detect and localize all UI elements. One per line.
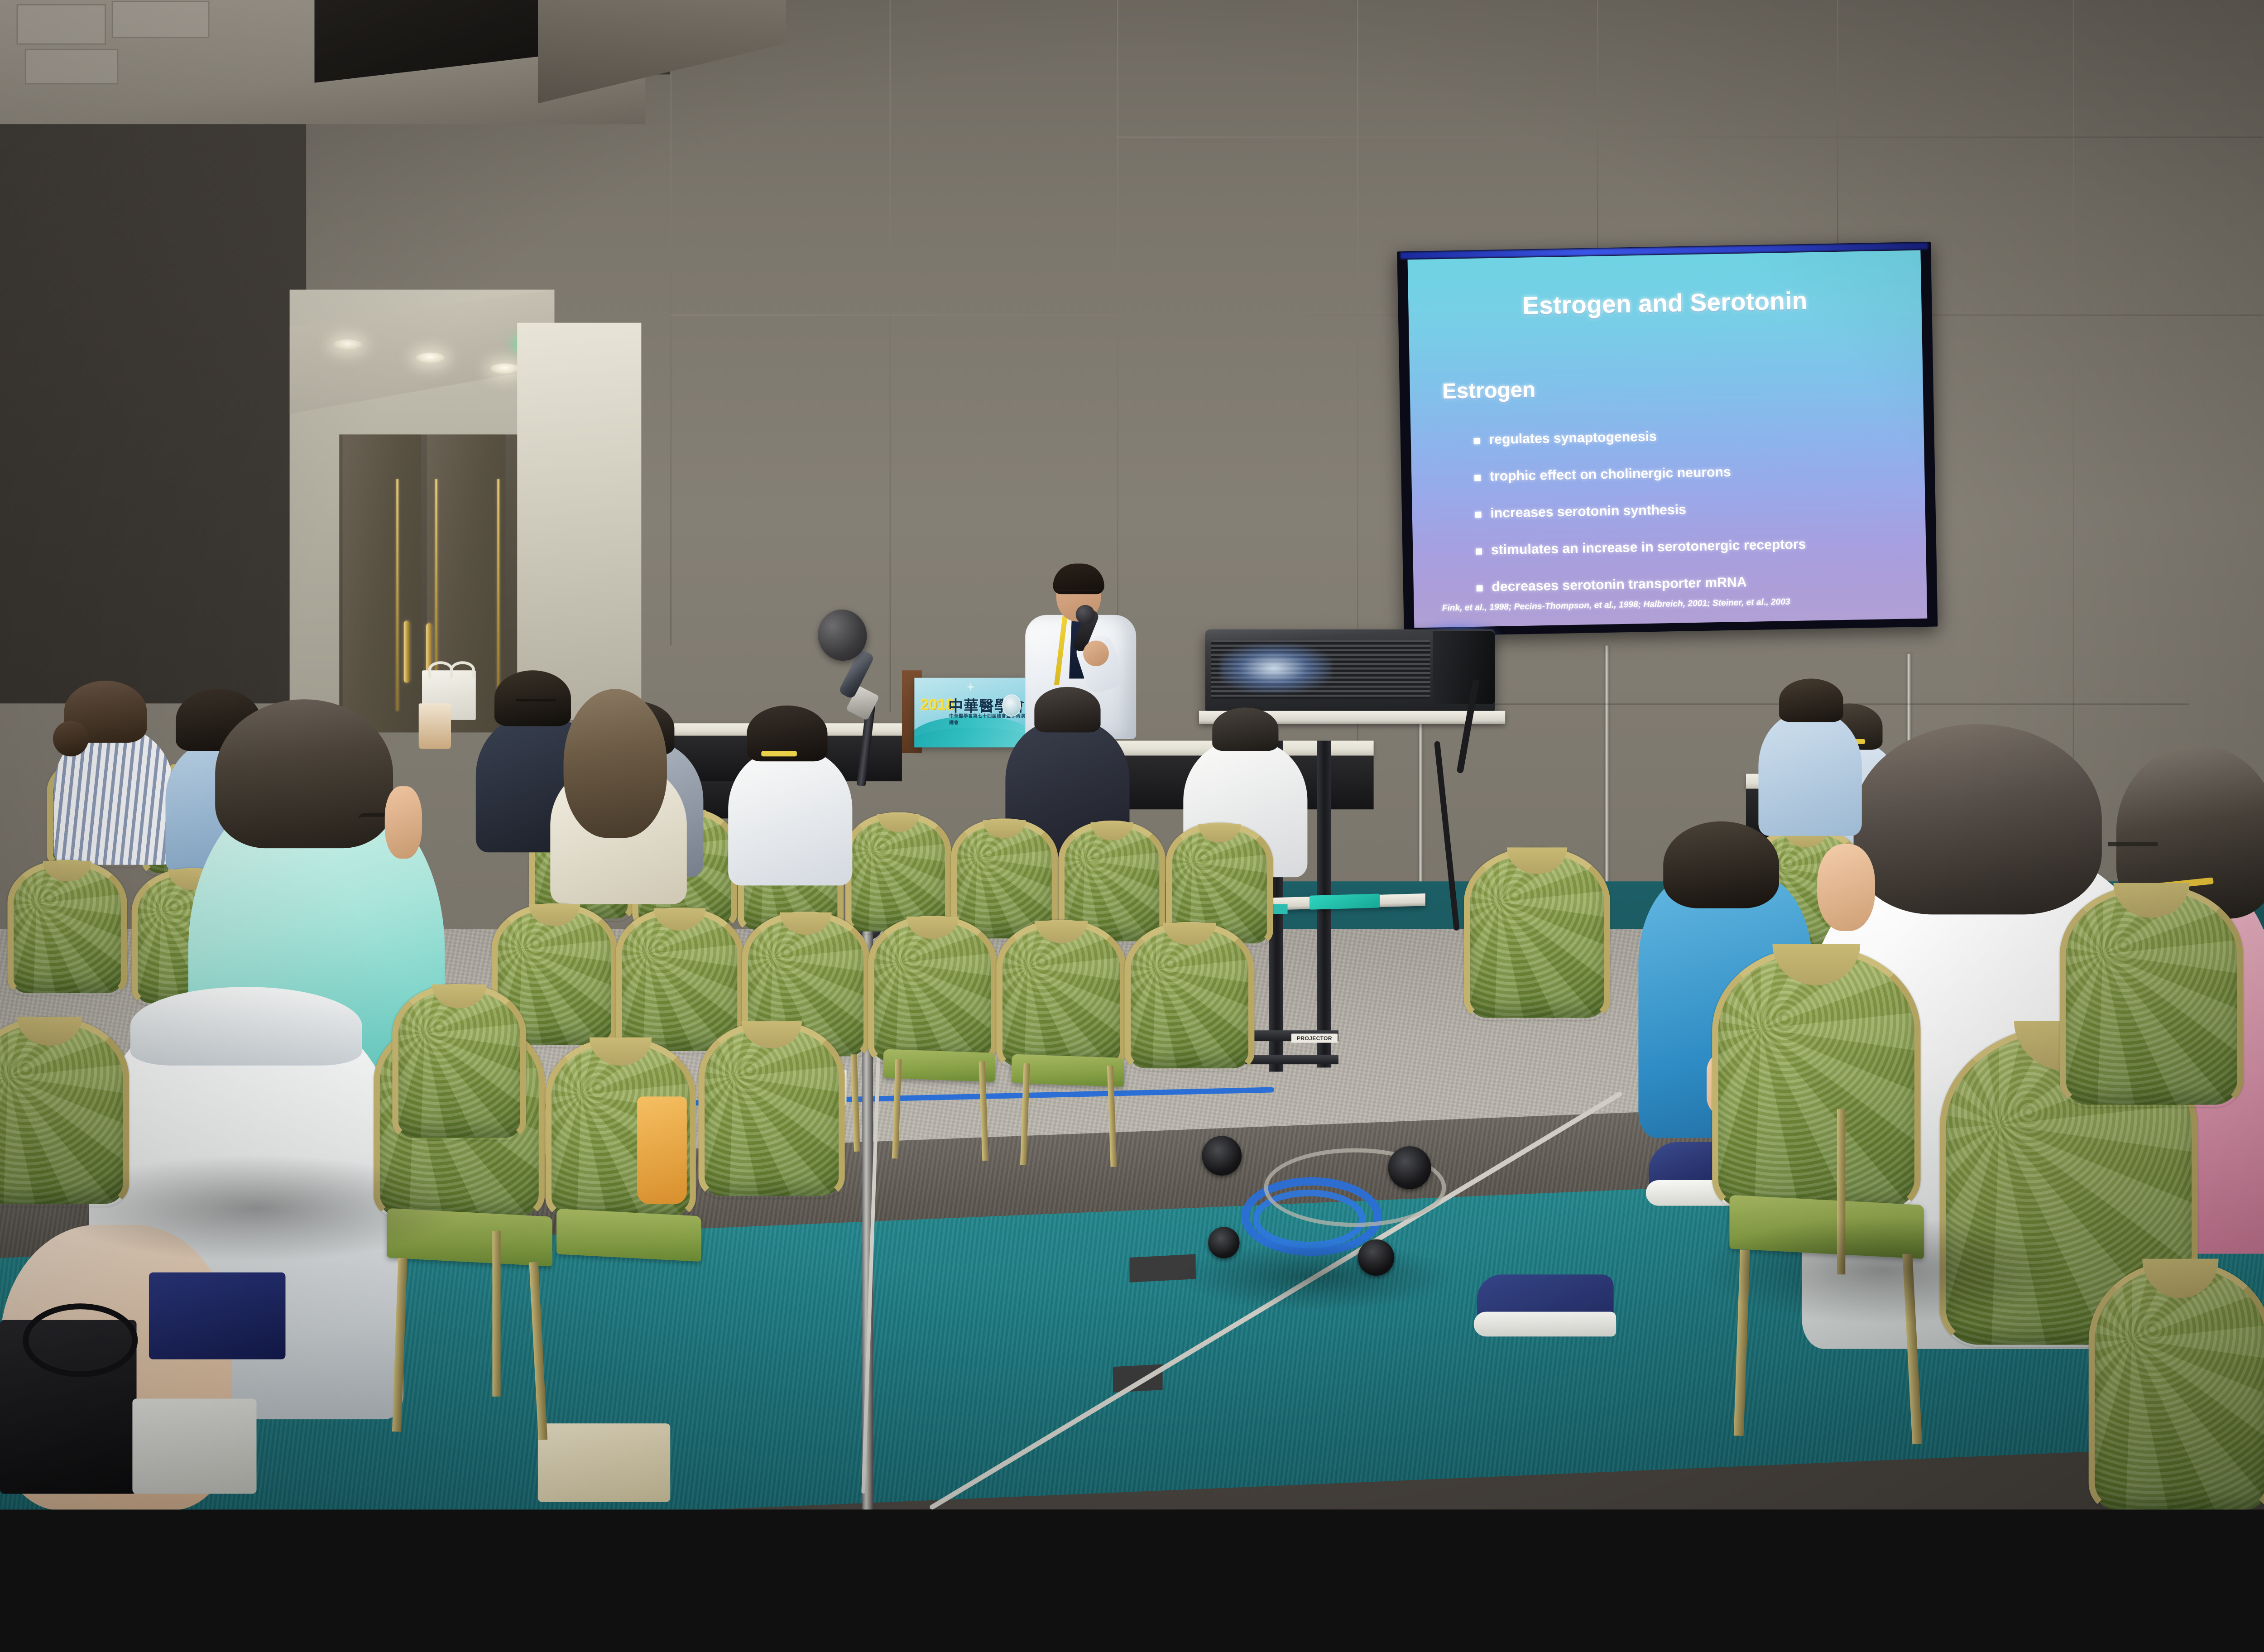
door-handle[interactable] xyxy=(404,621,410,683)
banquet-chair[interactable] xyxy=(873,921,992,1061)
bullet-square-icon xyxy=(1474,475,1481,481)
cart-label: PROJECTOR xyxy=(1291,1034,1338,1043)
attendee-hair xyxy=(1779,679,1843,722)
banquet-chair[interactable] xyxy=(703,1026,840,1196)
slide-bullet-text: decreases serotonin transporter mRNA xyxy=(1492,575,1747,595)
attendee-man-white-shirt xyxy=(728,749,852,886)
attendee-ear xyxy=(385,786,422,859)
attendee-hair xyxy=(494,670,571,726)
cart-shadow xyxy=(1175,1241,1456,1311)
conference-room-photo: Estrogen and Serotonin Estrogen regulate… xyxy=(0,0,2264,1509)
chair-shadow xyxy=(1696,1216,2068,1324)
bullet-square-icon xyxy=(1477,585,1483,591)
banquet-chair[interactable] xyxy=(1001,925,1121,1066)
banquet-chair[interactable] xyxy=(2065,890,2239,1105)
eyeglasses-icon xyxy=(1058,589,1098,600)
slide-bullet: trophic effect on cholinergic neurons xyxy=(1474,461,1913,485)
bullet-square-icon xyxy=(1475,512,1482,518)
banquet-chair[interactable] xyxy=(850,817,946,932)
bullet-square-icon xyxy=(1474,438,1480,444)
attendee-lanyard xyxy=(761,751,797,756)
slide-title: Estrogen and Serotonin xyxy=(1408,284,1922,322)
attendee-ear xyxy=(1817,844,1875,931)
ceiling-downlight-icon xyxy=(333,339,362,350)
floor-tape-marker xyxy=(1113,1364,1163,1392)
projector-lens-glow xyxy=(1220,644,1332,693)
alcove-side-wall xyxy=(517,323,641,720)
eyeglasses-icon xyxy=(516,699,556,708)
attendee-hair xyxy=(1854,724,2102,914)
green-pad xyxy=(1309,893,1380,909)
shoe-sole xyxy=(1474,1312,1616,1337)
podium-banner: 2018 中華醫學會 中華醫學會第七十四屆總會暨學術演講會 xyxy=(914,678,1025,748)
attendee-hair xyxy=(215,699,393,848)
projector-rear-panel xyxy=(1433,631,1495,704)
presenter-hand xyxy=(1083,640,1109,666)
ceiling-downlight-icon xyxy=(416,353,445,364)
bag-handle xyxy=(428,661,453,678)
wall-seam xyxy=(890,0,891,712)
slide-bullet-list: regulates synaptogenesis trophic effect … xyxy=(1473,424,1915,616)
banquet-chair[interactable] xyxy=(397,989,521,1138)
door-leaf-left[interactable] xyxy=(343,434,422,732)
banquet-chair[interactable] xyxy=(1717,952,1916,1209)
banquet-chair[interactable] xyxy=(12,865,122,993)
wall-seam xyxy=(2073,0,2074,848)
banquet-chair[interactable] xyxy=(1130,927,1250,1068)
white-bag xyxy=(132,1398,256,1494)
ceiling-downlight-icon xyxy=(490,363,519,374)
plastic-bag xyxy=(538,1423,670,1502)
tote-bag xyxy=(149,1273,286,1359)
star-icon xyxy=(967,683,975,691)
attendee-hair xyxy=(1212,708,1278,751)
bag-handle xyxy=(450,661,475,678)
microphone-head-icon xyxy=(1076,605,1095,624)
wall-seam xyxy=(1117,137,2263,138)
slide-bullet: increases serotonin synthesis xyxy=(1475,498,1914,521)
chair-seat[interactable] xyxy=(556,1209,701,1262)
hoodie-hood xyxy=(130,987,362,1066)
drink-cup xyxy=(419,703,451,749)
handbag-strap xyxy=(23,1303,138,1377)
attendee-hair xyxy=(564,689,667,838)
slide-heading: Estrogen xyxy=(1442,377,1536,404)
chair-shadow xyxy=(50,1154,464,1262)
attendee-man-blue-polo xyxy=(1758,712,1861,836)
eyeglasses-icon xyxy=(2108,842,2158,859)
banquet-chair[interactable] xyxy=(1469,852,1606,1018)
orange-bag xyxy=(637,1096,687,1204)
hair-bun xyxy=(53,721,89,757)
wall-seam xyxy=(1597,0,1598,265)
slide-bullet: regulates synaptogenesis xyxy=(1473,424,1912,448)
presentation-slide: Estrogen and Serotonin Estrogen regulate… xyxy=(1408,250,1928,628)
bullet-square-icon xyxy=(1476,548,1482,555)
door-trim xyxy=(497,479,499,711)
attendee-hair xyxy=(1663,821,1779,908)
slide-bullet-text: trophic effect on cholinergic neurons xyxy=(1490,464,1731,484)
slide-bullet: stimulates an increase in serotonergic r… xyxy=(1476,535,1914,558)
projector xyxy=(1205,629,1495,712)
organization-seal-icon xyxy=(1002,694,1021,716)
slide-bullet-text: regulates synaptogenesis xyxy=(1489,429,1657,447)
door-trim xyxy=(396,479,398,711)
banquet-chair[interactable] xyxy=(2094,1266,2264,1509)
attendee-hair xyxy=(1034,687,1100,733)
slide-bullet: decreases serotonin transporter mRNA xyxy=(1476,571,1915,595)
slide-bullet-text: stimulates an increase in serotonergic r… xyxy=(1491,537,1806,558)
projection-screen: Estrogen and Serotonin Estrogen regulate… xyxy=(1397,242,1938,636)
chair-leg xyxy=(492,1231,500,1396)
slide-bullet-text: increases serotonin synthesis xyxy=(1490,502,1686,521)
cart-wheel xyxy=(1388,1146,1431,1189)
cart-wheel xyxy=(1202,1136,1242,1176)
wall-seam xyxy=(1837,0,1838,257)
wall-seam xyxy=(670,0,672,645)
